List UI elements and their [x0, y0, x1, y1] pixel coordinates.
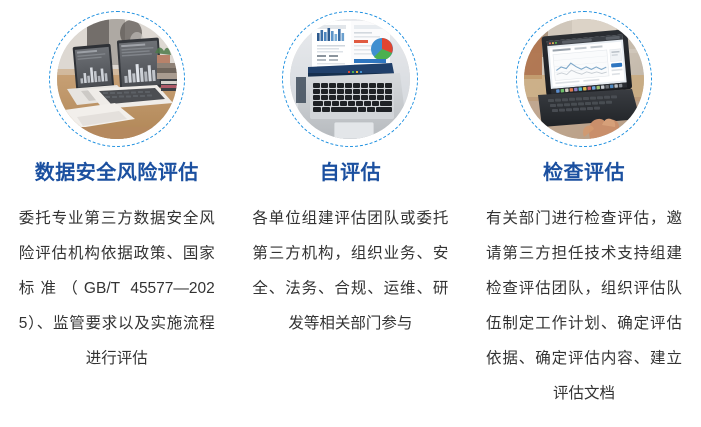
- card-self-assessment: 自评估 各单位组建评估团队或委托第三方机构，组织业务、安全、法务、合规、运维、研…: [234, 0, 468, 341]
- circle-frame: [516, 11, 652, 147]
- circle-frame: [282, 11, 418, 147]
- card-body: 委托专业第三方数据安全风险评估机构依据政策、国家标准（GB/T 45577—20…: [19, 201, 215, 376]
- laptop-dashboard-reports-photo: [290, 19, 410, 139]
- infographic-root: 数据安全风险评估 委托专业第三方数据安全风险评估机构依据政策、国家标准（GB/T…: [0, 0, 701, 427]
- card-data-security-risk-assessment: 数据安全风险评估 委托专业第三方数据安全风险评估机构依据政策、国家标准（GB/T…: [0, 0, 234, 376]
- laptop-line-chart-hands-photo: [524, 19, 644, 139]
- card-row: 数据安全风险评估 委托专业第三方数据安全风险评估机构依据政策、国家标准（GB/T…: [0, 0, 701, 411]
- circle-frame: [49, 11, 185, 147]
- card-body: 各单位组建评估团队或委托第三方机构，组织业务、安全、法务、合规、运维、研发等相关…: [252, 201, 448, 341]
- tablets-bar-charts-desk-photo: [57, 19, 177, 139]
- card-title: 自评估: [320, 161, 382, 185]
- card-title: 数据安全风险评估: [35, 161, 199, 185]
- card-body: 有关部门进行检查评估，邀请第三方担任技术支持组建检查评估团队，组织评估队伍制定工…: [486, 201, 682, 411]
- card-inspection-assessment: 检查评估 有关部门进行检查评估，邀请第三方担任技术支持组建检查评估团队，组织评估…: [467, 0, 701, 411]
- card-title: 检查评估: [543, 161, 625, 185]
